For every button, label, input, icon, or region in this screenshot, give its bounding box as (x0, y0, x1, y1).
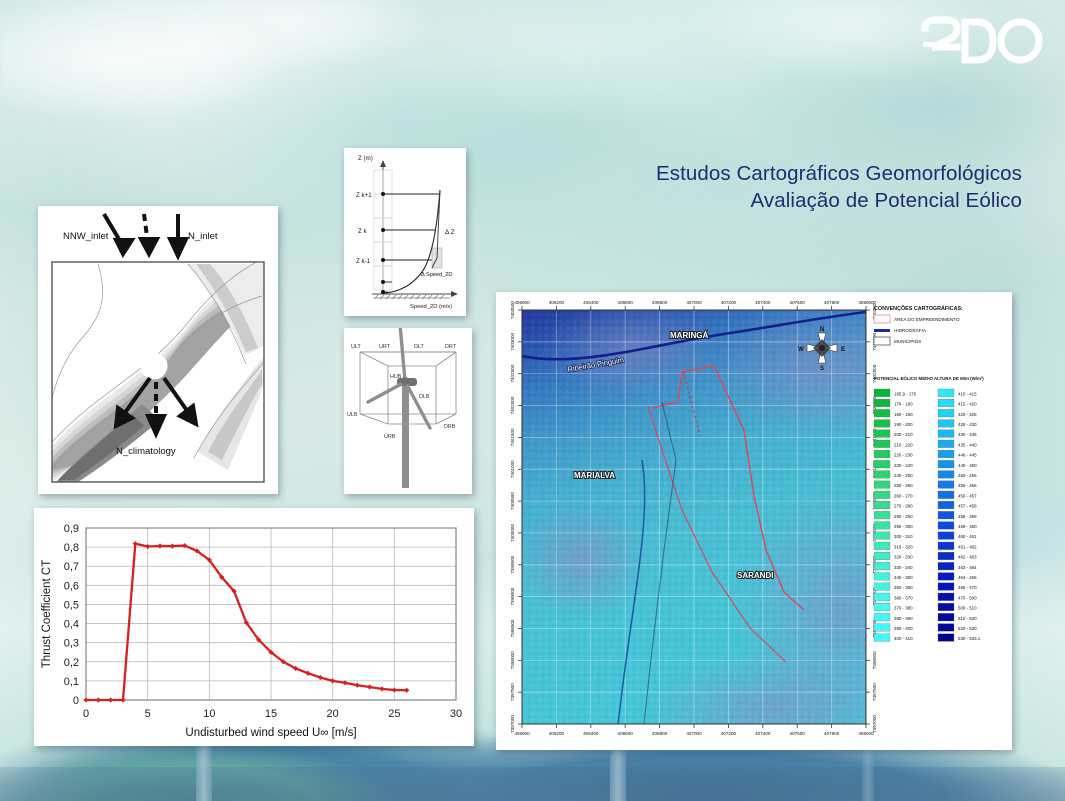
legend-class-swatch[interactable] (874, 511, 890, 519)
legend-class-swatch[interactable] (874, 634, 890, 642)
legend-class-swatch[interactable] (874, 593, 890, 601)
legend-class-label[interactable]: 435 - 440 (958, 442, 977, 447)
legend-class-swatch[interactable] (938, 583, 954, 591)
legend-class-label[interactable]: 390 - 400 (894, 626, 913, 631)
thrust-coefficient-chart[interactable]: 05101520253000,10,20,30,40,50,60,70,80,9… (34, 508, 474, 746)
legend-class-label[interactable]: 458 - 459 (958, 514, 977, 519)
legend-class-label[interactable]: 420 - 425 (958, 412, 977, 417)
map-xtick-label[interactable]: 406800 (652, 731, 668, 736)
profile-delta-z-label: Δ Z (445, 229, 455, 236)
turbine-node-label: DRT (445, 344, 457, 350)
legend-class-swatch[interactable] (938, 409, 954, 417)
legend-class-label[interactable]: 360 - 370 (894, 595, 913, 600)
legend-class-label[interactable]: 510 - 520 (958, 616, 977, 621)
legend-class-swatch[interactable] (874, 552, 890, 560)
legend-class-swatch[interactable] (938, 624, 954, 632)
legend-class-swatch[interactable] (938, 573, 954, 581)
outlet-label: N_climatology (116, 446, 176, 457)
legend-class-swatch[interactable] (874, 450, 890, 458)
map-ytick-label[interactable]: 7399000 (510, 587, 515, 605)
legend-class-label[interactable]: 270 - 280 (894, 504, 913, 509)
legend-swatch[interactable] (874, 337, 890, 345)
legend-class-label[interactable]: 300 - 310 (894, 534, 913, 539)
chart-ytick-label: 0,6 (64, 580, 79, 592)
turbine-node-label: ULB (347, 412, 358, 418)
turbine-node-label: URB (384, 434, 396, 440)
legend-class-label[interactable]: 415 - 420 (958, 402, 977, 407)
chart-ytick-label: 0,2 (64, 657, 79, 669)
legend-class-swatch[interactable] (938, 471, 954, 479)
chart-xtick-label: 5 (145, 708, 151, 720)
page-title-line-1: Estudos Cartográficos Geomorfológicos (500, 160, 1022, 187)
chart-xtick-label: 10 (203, 708, 215, 720)
profile-level-label: Z k+1 (356, 192, 372, 199)
legend-class-swatch[interactable] (874, 522, 890, 530)
legend-class-label[interactable]: 520 - 530 (958, 626, 977, 631)
map-xtick-label[interactable]: 406200 (549, 731, 565, 736)
legend-class-label[interactable]: 400 - 410 (894, 636, 913, 641)
legend-class-label[interactable]: 210 - 220 (894, 442, 913, 447)
map-xtick-label[interactable]: 407600 (790, 731, 806, 736)
wind-flow-contour-figure[interactable]: NNW_inlet N_inlet (38, 206, 278, 494)
turbine-node-label: URT (379, 344, 391, 350)
map-ytick-label[interactable]: 7397500 (510, 683, 515, 701)
legend-class-label[interactable]: 461 - 462 (958, 544, 977, 549)
legend-class-label[interactable]: 455 - 456 (958, 483, 977, 488)
map-ytick-label[interactable]: 7400500 (510, 492, 515, 510)
turbine-node-label: HUB (390, 374, 402, 380)
chart-y-axis-title: Thrust Coefficient CT (41, 560, 53, 668)
legend-class-swatch[interactable] (938, 603, 954, 611)
legend-class-swatch[interactable] (874, 542, 890, 550)
map-xtick-label[interactable]: 407000 (686, 731, 702, 736)
legend-convention-label[interactable]: HIDROGRAFIA (894, 328, 927, 333)
map-ytick-label[interactable]: 7397000 (510, 715, 515, 733)
map-ytick-label[interactable]: 7398000 (510, 651, 515, 669)
legend-class-swatch[interactable] (874, 430, 890, 438)
legend-class-label[interactable]: 457 - 458 (958, 504, 977, 509)
legend-class-swatch[interactable] (874, 603, 890, 611)
map-ytick-label[interactable]: 7401500 (510, 428, 515, 446)
turbine-bounding-box-figure[interactable]: ULT URT DLT DRT HUB DLB ULB URB DRB (344, 328, 472, 494)
legend-class-label[interactable]: 290 - 300 (894, 524, 913, 529)
legend-class-swatch[interactable] (938, 501, 954, 509)
chart-ytick-label: 0,3 (64, 638, 79, 650)
legend-class-label[interactable]: 465 - 470 (958, 585, 977, 590)
chart-ytick-label: 0 (73, 695, 79, 707)
legend-class-label[interactable]: 230 - 240 (894, 463, 913, 468)
map-xtick-label[interactable]: 406600 (618, 731, 634, 736)
brand-logo-2do[interactable] (919, 12, 1047, 70)
profile-y-axis-label: Z (m) (358, 155, 373, 162)
legend-class-swatch[interactable] (874, 562, 890, 570)
compass-direction-label: E (841, 347, 845, 353)
inlet-left-label: NNW_inlet (63, 231, 109, 242)
legend-class-label[interactable]: 220 - 230 (894, 453, 913, 458)
compass-direction-label: N (820, 327, 824, 333)
legend-class-label[interactable]: 459 - 460 (958, 524, 977, 529)
legend-class-label[interactable]: 500 - 510 (958, 606, 977, 611)
legend-class-label[interactable]: 180 - 190 (894, 412, 913, 417)
map-place-label: MARINGÁ (670, 331, 708, 340)
map-ytick-label[interactable]: 7400000 (510, 524, 515, 542)
turbine-node-label: ULT (351, 344, 361, 350)
map-xtick-label[interactable]: 407600 (790, 300, 806, 305)
map-ytick-label[interactable]: 7402000 (510, 396, 515, 414)
map-xtick-label[interactable]: 406200 (549, 300, 565, 305)
chart-ytick-label: 0,5 (64, 599, 79, 611)
legend-class-label[interactable]: 440 - 445 (958, 453, 977, 458)
legend-class-swatch[interactable] (874, 460, 890, 468)
vertical-wind-profile-figure[interactable]: Z (m) Speed_2D (m/s) Z k+1 Z k Z k-1 (344, 148, 466, 316)
legend-class-swatch[interactable] (938, 613, 954, 621)
legend-class-label[interactable]: 260 - 270 (894, 493, 913, 498)
chart-ytick-label: 0,8 (64, 542, 79, 554)
legend-class-label[interactable]: 462 - 463 (958, 555, 977, 560)
map-xtick-label[interactable]: 407800 (824, 300, 840, 305)
legend-class-label[interactable]: 530 - 533.1 (958, 636, 981, 641)
map-xtick-label[interactable]: 407200 (721, 300, 737, 305)
chart-x-axis-title: Undisturbed wind speed U∞ [m/s] (185, 727, 356, 739)
legend-class-swatch[interactable] (938, 450, 954, 458)
map-xtick-label[interactable]: 407400 (755, 731, 771, 736)
compass-direction-label: S (820, 366, 824, 372)
legend-class-label[interactable]: 310 - 320 (894, 544, 913, 549)
chart-xtick-label: 15 (265, 708, 277, 720)
map-ytick-label[interactable]: 7403500 (510, 301, 515, 319)
legend-class-swatch[interactable] (874, 420, 890, 428)
legend-class-swatch[interactable] (874, 583, 890, 591)
legend-class-swatch[interactable] (874, 573, 890, 581)
legend-class-swatch[interactable] (938, 440, 954, 448)
turbine-node-label: DRB (444, 424, 456, 430)
map-place-label: MARIALVA (574, 471, 615, 480)
map-ytick-label[interactable]: 7398000 (872, 651, 877, 669)
profile-level-label: Z k (358, 228, 367, 235)
map-ytick-label[interactable]: 7399500 (510, 555, 515, 573)
map-ytick-label[interactable]: 7397000 (872, 715, 877, 733)
legend-class-swatch[interactable] (874, 501, 890, 509)
legend-scale-title[interactable]: POTENCIAL EÓLICO MÉDIO ALTURA DE 50m (W/… (874, 376, 984, 381)
wind-potential-map[interactable]: MARINGÁMARIALVASARANDIRibeirão Pinguim40… (496, 292, 1012, 750)
map-ytick-label[interactable]: 7398500 (510, 619, 515, 637)
turbine-node-label: DLB (419, 394, 430, 400)
legend-class-swatch[interactable] (874, 389, 890, 397)
legend-class-label[interactable]: 200 - 210 (894, 432, 913, 437)
legend-class-label[interactable]: 165.9 - 170 (894, 391, 917, 396)
map-place-label: SARANDI (737, 571, 773, 580)
legend-class-label[interactable]: 320 - 330 (894, 555, 913, 560)
chart-xtick-label: 20 (327, 708, 339, 720)
legend-class-swatch[interactable] (938, 562, 954, 570)
profile-x-axis-label: Speed_2D (m/s) (410, 304, 452, 310)
chart-ytick-label: 0,1 (64, 676, 79, 688)
chart-xtick-label: 30 (450, 708, 462, 720)
legend-class-swatch[interactable] (938, 522, 954, 530)
map-xtick-label[interactable]: 406800 (652, 300, 668, 305)
legend-class-label[interactable]: 330 - 340 (894, 565, 913, 570)
map-xtick-label[interactable]: 407200 (721, 731, 737, 736)
legend-class-label[interactable]: 280 - 290 (894, 514, 913, 519)
legend-class-swatch[interactable] (874, 532, 890, 540)
legend-class-label[interactable]: 445 - 450 (958, 463, 977, 468)
map-ytick-label[interactable]: 7401000 (510, 460, 515, 478)
map-ytick-label[interactable]: 7403000 (510, 332, 515, 350)
legend-class-swatch[interactable] (874, 409, 890, 417)
legend-class-label[interactable]: 380 - 390 (894, 616, 913, 621)
legend-class-label[interactable]: 370 - 380 (894, 606, 913, 611)
map-xtick-label[interactable]: 406400 (583, 300, 599, 305)
legend-class-label[interactable]: 350 - 360 (894, 585, 913, 590)
legend-swatch[interactable] (874, 329, 890, 332)
legend-class-swatch[interactable] (938, 481, 954, 489)
legend-class-swatch[interactable] (938, 491, 954, 499)
legend-class-swatch[interactable] (938, 532, 954, 540)
profile-level-label: Z k-1 (356, 258, 371, 265)
legend-convention-label[interactable]: MUNICÍPIOS (894, 338, 921, 344)
map-xtick-label[interactable]: 406000 (514, 731, 530, 736)
legend-class-swatch[interactable] (874, 440, 890, 448)
legend-class-swatch[interactable] (938, 511, 954, 519)
legend-class-swatch[interactable] (874, 613, 890, 621)
legend-class-swatch[interactable] (938, 634, 954, 642)
chart-ytick-label: 0,4 (64, 619, 79, 631)
chart-xtick-label: 25 (388, 708, 400, 720)
legend-class-swatch[interactable] (874, 624, 890, 632)
legend-class-label[interactable]: 340 - 350 (894, 575, 913, 580)
map-xtick-label[interactable]: 406000 (514, 300, 530, 305)
legend-class-swatch[interactable] (874, 491, 890, 499)
legend-class-swatch[interactable] (874, 399, 890, 407)
turbine-node-label: DLT (414, 344, 424, 350)
legend-class-label[interactable]: 410 - 415 (958, 391, 977, 396)
legend-class-swatch[interactable] (874, 481, 890, 489)
legend-class-label[interactable]: 464 - 465 (958, 575, 977, 580)
legend-class-label[interactable]: 250 - 260 (894, 483, 913, 488)
legend-class-swatch[interactable] (938, 399, 954, 407)
map-xtick-label[interactable]: 406600 (618, 300, 634, 305)
legend-class-swatch[interactable] (874, 471, 890, 479)
map-ytick-label[interactable]: 7402500 (510, 364, 515, 382)
legend-class-label[interactable]: 430 - 435 (958, 432, 977, 437)
legend-class-label[interactable]: 170 - 180 (894, 402, 913, 407)
legend-class-label[interactable]: 460 - 461 (958, 534, 977, 539)
legend-conventions-title[interactable]: CONVENÇÕES CARTOGRÁFICAS: (874, 305, 963, 312)
page-title: Estudos Cartográficos Geomorfológicos Av… (500, 160, 1022, 214)
legend-class-swatch[interactable] (938, 430, 954, 438)
legend-class-label[interactable]: 456 - 457 (958, 493, 977, 498)
map-xtick-label[interactable]: 407800 (824, 731, 840, 736)
legend-class-swatch[interactable] (938, 593, 954, 601)
inlet-right-label: N_inlet (188, 231, 218, 242)
legend-class-label[interactable]: 450 - 455 (958, 473, 977, 478)
chart-ytick-label: 0,7 (64, 561, 79, 573)
page-title-line-2: Avaliação de Potencial Eólico (500, 187, 1022, 214)
map-ytick-label[interactable]: 7397500 (872, 683, 877, 701)
map-xtick-label[interactable]: 407000 (686, 300, 702, 305)
chart-ytick-label: 0,9 (64, 523, 79, 535)
map-xtick-label[interactable]: 407400 (755, 300, 771, 305)
legend-class-swatch[interactable] (938, 420, 954, 428)
legend-class-swatch[interactable] (938, 389, 954, 397)
legend-class-label[interactable]: 463 - 464 (958, 565, 977, 570)
legend-class-swatch[interactable] (938, 460, 954, 468)
legend-class-swatch[interactable] (938, 552, 954, 560)
legend-class-label[interactable]: 425 - 430 (958, 422, 977, 427)
legend-class-label[interactable]: 190 - 200 (894, 422, 913, 427)
legend-swatch[interactable] (874, 315, 890, 323)
legend-class-label[interactable]: 470 - 500 (958, 595, 977, 600)
legend-class-swatch[interactable] (938, 542, 954, 550)
legend-class-label[interactable]: 240 - 250 (894, 473, 913, 478)
profile-delta-speed-label: Δ Speed_2D (421, 272, 452, 278)
compass-direction-label: W (798, 347, 804, 353)
legend-convention-label[interactable]: ÁREA DO EMPREENDIMENTO (894, 316, 960, 322)
map-xtick-label[interactable]: 406400 (583, 731, 599, 736)
chart-xtick-label: 0 (83, 708, 89, 720)
